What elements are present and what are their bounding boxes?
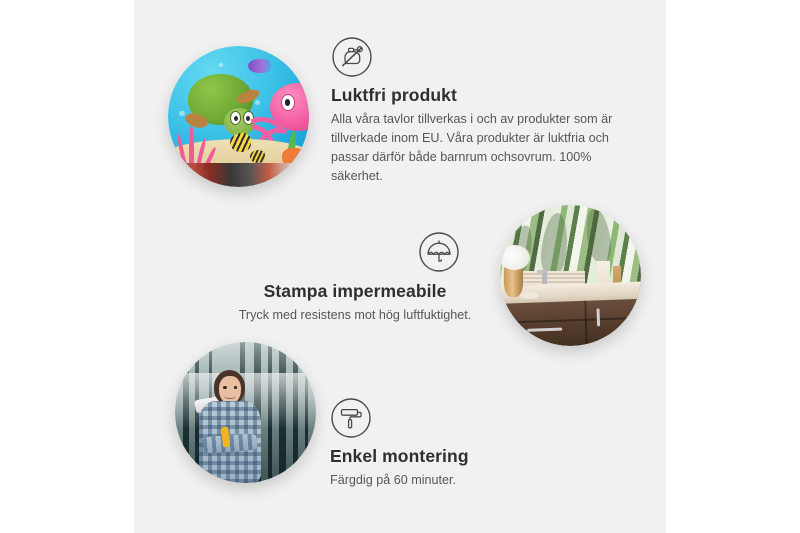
feature-description: Färgdig på 60 minuter. xyxy=(330,471,630,490)
feature-easy-install: Enkel montering Färgdig på 60 minuter. xyxy=(330,397,630,490)
photo-sea-inner xyxy=(168,46,309,187)
cabinet-handle xyxy=(596,308,600,326)
paint-roller-icon xyxy=(330,397,372,439)
photo-circle-forest xyxy=(175,342,316,483)
yellow-fish-icon xyxy=(250,150,266,163)
white-flowers xyxy=(500,245,530,270)
no-scent-spray-bottle-icon xyxy=(331,36,373,78)
feature-title: Stampa impermeabile xyxy=(210,281,500,302)
feature-title: Luktfri produkt xyxy=(331,85,631,106)
feature-title: Enkel montering xyxy=(330,446,630,467)
cabinet-handle xyxy=(526,328,561,332)
photo-forest-inner xyxy=(175,342,316,483)
photo-circle-sea xyxy=(168,46,309,187)
purple-fish-icon xyxy=(248,59,271,73)
wood-cabinet xyxy=(505,298,641,346)
feature-description: Tryck med resistens mot hög luftfuktighe… xyxy=(210,306,500,325)
feature-waterproof: Stampa impermeabile Tryck med resistens … xyxy=(210,231,500,325)
woman-eye xyxy=(223,386,227,389)
room-photo-strip xyxy=(168,163,309,187)
photo-bathroom-inner xyxy=(500,205,641,346)
woman-face xyxy=(219,376,242,404)
infographic-stage: Luktfri produkt Alla våra tavlor tillver… xyxy=(0,0,800,533)
cabinet-seam xyxy=(506,316,641,323)
bubble-icon xyxy=(255,100,260,105)
photo-circle-bathroom xyxy=(500,205,641,346)
octopus-eye xyxy=(281,94,295,111)
yellow-tool xyxy=(221,426,230,446)
bubble-icon xyxy=(219,63,223,67)
faucet-icon xyxy=(542,270,546,284)
umbrella-icon xyxy=(418,231,460,273)
feature-odourless: Luktfri produkt Alla våra tavlor tillver… xyxy=(331,36,631,187)
woman-eye xyxy=(234,386,238,389)
infographic-panel: Luktfri produkt Alla våra tavlor tillver… xyxy=(134,0,666,533)
cabinet-seam xyxy=(584,301,588,346)
yellow-fish-icon xyxy=(230,133,251,151)
feature-description: Alla våra tavlor tillverkas i och av pro… xyxy=(331,110,631,187)
